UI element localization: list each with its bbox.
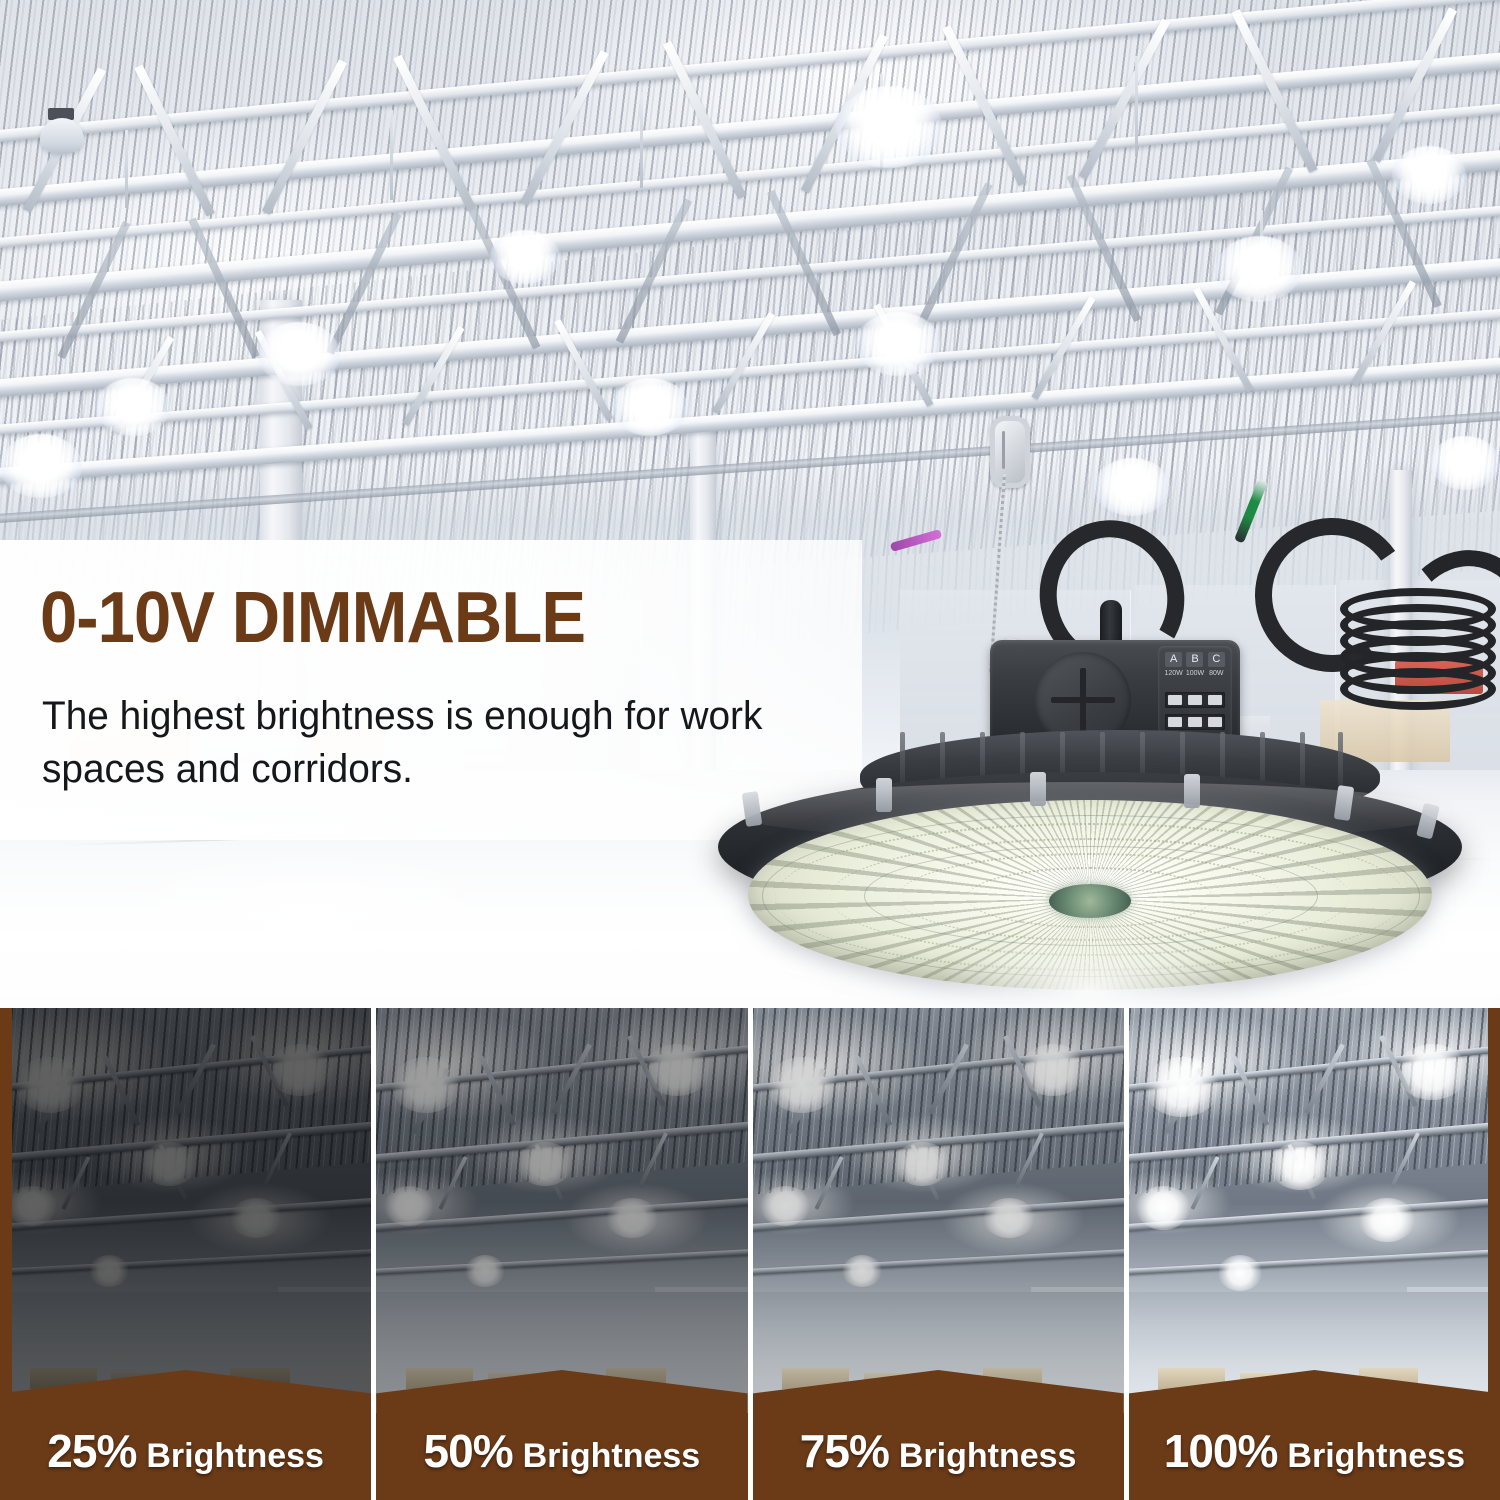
- brightness-dimmer-overlay: [376, 1008, 747, 1413]
- ceiling-lamp-glow: [836, 86, 942, 168]
- floor-reflection: [100, 850, 520, 970]
- thumbnail-photo-50: [376, 1008, 747, 1413]
- brightness-label: Brightness: [1287, 1437, 1465, 1475]
- wattage-b: 100W: [1185, 670, 1204, 678]
- lens-bracket: [1184, 774, 1200, 808]
- brightness-comparison-strip: 25%Brightness: [0, 1008, 1500, 1500]
- brightness-percent: 75%: [800, 1425, 889, 1477]
- selector-letter-c: C: [1208, 652, 1225, 667]
- ceiling-lamp-glow: [856, 312, 940, 376]
- brightness-label: Brightness: [899, 1437, 1077, 1475]
- wattage-a: 120W: [1164, 670, 1183, 678]
- dip-switch-row[interactable]: [1165, 714, 1225, 730]
- brightness-cell-100[interactable]: 100%Brightness: [1129, 1008, 1500, 1500]
- brightness-percent: 50%: [424, 1425, 513, 1477]
- selector-letters: A B C: [1163, 652, 1227, 667]
- dip-switch-row[interactable]: [1165, 692, 1225, 708]
- caption-75: 75%Brightness: [753, 1424, 1124, 1478]
- ceiling-lamp-glow: [96, 378, 170, 436]
- selector-letter-b: B: [1186, 652, 1203, 667]
- lens-center-sensor: [1049, 884, 1131, 918]
- ufo-led-high-bay-light: A B C 120W 100W 80W: [690, 400, 1490, 980]
- lens-bracket: [742, 791, 763, 827]
- ceiling-lamp-glow: [1392, 146, 1466, 204]
- selector-wattages: 120W 100W 80W: [1163, 670, 1227, 678]
- ceiling-lamp-glow: [258, 322, 340, 386]
- brightness-percent: 25%: [47, 1425, 136, 1477]
- brightness-dimmer-overlay: [0, 1008, 371, 1413]
- lens-bracket: [1030, 772, 1046, 806]
- wattage-c: 80W: [1207, 670, 1226, 678]
- thumbnail-photo-25: [0, 1008, 371, 1413]
- selector-letter-a: A: [1165, 652, 1182, 667]
- hero-warehouse-photo: 0-10V DIMMABLE The highest brightness is…: [0, 0, 1500, 1008]
- thumbnail-photo-75: [753, 1008, 1124, 1413]
- ceiling-lamp-glow: [1216, 236, 1302, 302]
- brightness-cell-25[interactable]: 25%Brightness: [0, 1008, 371, 1500]
- brightness-percent: 100%: [1164, 1425, 1278, 1477]
- hanger-rod: [640, 92, 643, 188]
- caption-50: 50%Brightness: [376, 1424, 747, 1478]
- carabiner-hook-icon: [990, 416, 1030, 488]
- brightness-label: Brightness: [146, 1437, 324, 1475]
- hanger-rod: [125, 130, 128, 208]
- caption-25: 25%Brightness: [0, 1424, 371, 1478]
- brightness-cell-50[interactable]: 50%Brightness: [376, 1008, 747, 1500]
- green-ground-wire: [1234, 479, 1268, 544]
- ceiling-lamp-glow: [490, 230, 560, 284]
- brightness-cell-75[interactable]: 75%Brightness: [753, 1008, 1124, 1500]
- lamp-shade: [40, 118, 84, 154]
- hanger-rod: [390, 110, 393, 200]
- ceiling-lamp-glow: [612, 378, 688, 436]
- purple-cable-tag: [890, 529, 942, 552]
- hanger-rod: [1135, 56, 1138, 156]
- product-feature-image: 0-10V DIMMABLE The highest brightness is…: [0, 0, 1500, 1500]
- power-cord-coil: [1340, 588, 1480, 700]
- thumbnail-photo-100: [1129, 1008, 1500, 1413]
- brightness-label: Brightness: [523, 1437, 701, 1475]
- brightness-dimmer-overlay: [753, 1008, 1124, 1413]
- page-title: 0-10V DIMMABLE: [40, 582, 585, 654]
- ceiling-lamp-glow: [0, 434, 82, 498]
- caption-100: 100%Brightness: [1129, 1424, 1500, 1478]
- lens-bracket: [876, 778, 892, 812]
